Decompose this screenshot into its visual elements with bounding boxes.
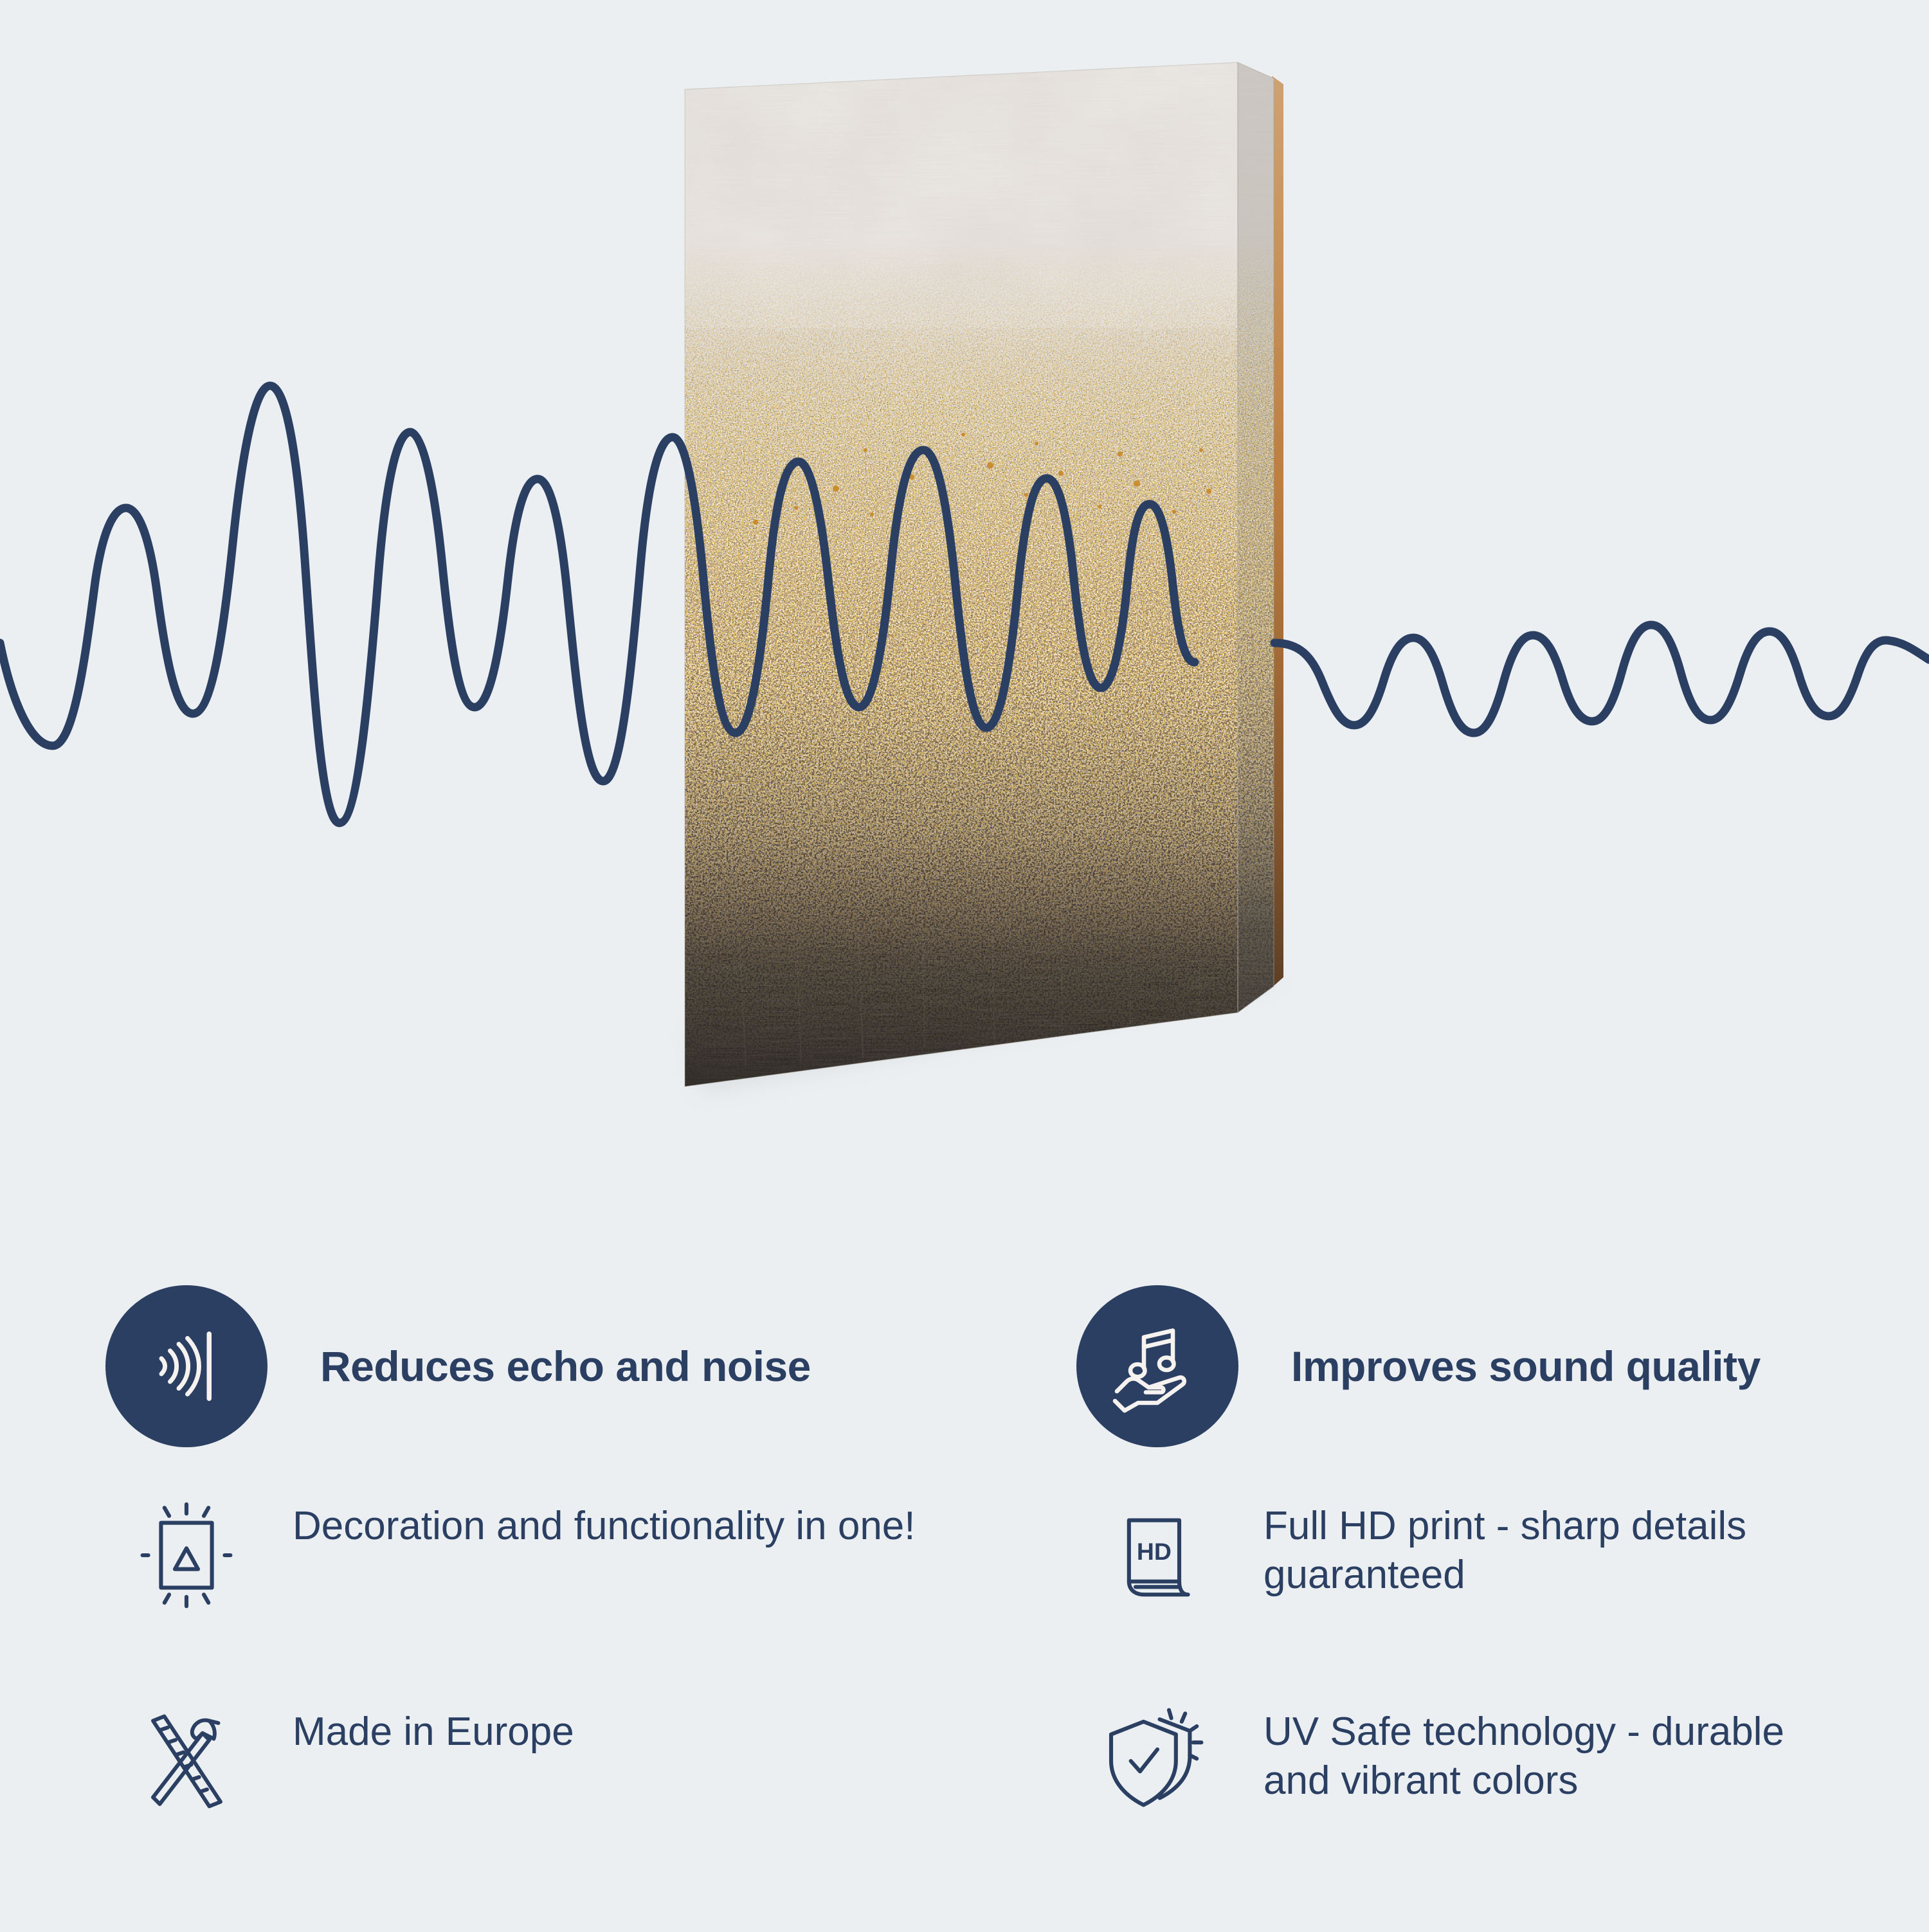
feature-label: Reduces echo and noise <box>320 1343 811 1390</box>
framed-picture-rays-icon <box>125 1494 248 1616</box>
hd-print-icon: HD <box>1096 1494 1218 1616</box>
feature-label: Decoration and functionality in one! <box>293 1502 916 1551</box>
ruler-hammer-icon <box>125 1700 248 1822</box>
canvas-front-face <box>682 58 1244 1099</box>
feature-uv-safe[interactable]: UV Safe technology - durable and vibrant… <box>1067 1697 1845 1903</box>
feature-decoration-functionality[interactable]: Decoration and functionality in one! <box>96 1492 1067 1697</box>
feature-improves-sound[interactable]: Improves sound quality <box>1067 1241 1845 1492</box>
feature-list: Reduces echo and noise Improves sound qu… <box>96 1241 1845 1903</box>
sound-waves-wall-icon <box>105 1285 267 1447</box>
infographic-root: Reduces echo and noise Improves sound qu… <box>0 0 1929 1929</box>
svg-text:HD: HD <box>1137 1538 1172 1565</box>
feature-full-hd-print[interactable]: HD Full HD print - sharp details guarant… <box>1067 1492 1845 1697</box>
feature-label: Full HD print - sharp details guaranteed <box>1263 1502 1845 1599</box>
shield-check-sun-icon <box>1096 1700 1218 1822</box>
canvas-side-panel <box>1235 58 1280 1022</box>
feature-label: Improves sound quality <box>1291 1343 1761 1390</box>
feature-made-in-europe[interactable]: Made in Europe <box>96 1697 1067 1903</box>
feature-label: Made in Europe <box>293 1708 574 1756</box>
feature-label: UV Safe technology - durable and vibrant… <box>1263 1708 1845 1805</box>
feature-reduces-echo[interactable]: Reduces echo and noise <box>96 1241 1067 1492</box>
music-note-hand-icon <box>1076 1285 1238 1447</box>
